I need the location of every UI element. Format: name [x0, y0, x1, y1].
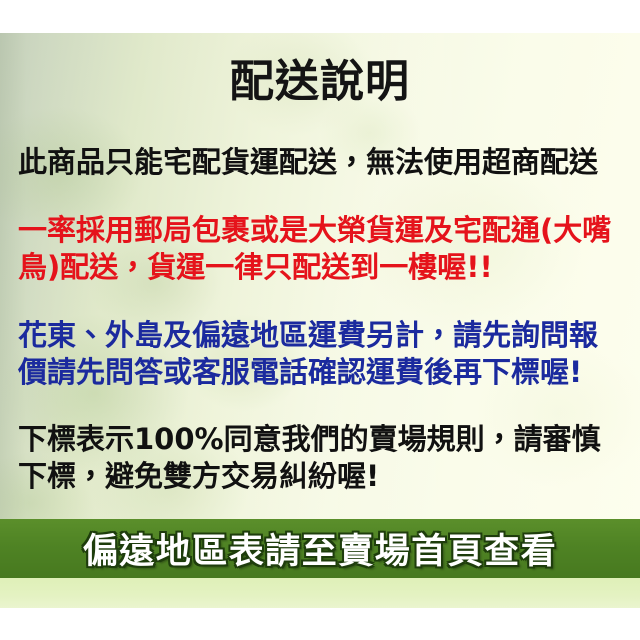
footer-strip [0, 578, 640, 608]
remote-area-banner: 偏遠地區表請至賣場首頁查看 [0, 519, 640, 578]
notice-paragraph-carriers-and-ground-floor: 一率採用郵局包裹或是大榮貨運及宅配通(大嘴鳥)配送，貨運一律只配送到一樓喔!! [18, 212, 626, 287]
page-title: 配送說明 [0, 59, 640, 106]
delivery-notice-banner: 配送說明 此商品只能宅配貨運配送，無法使用超商配送 一率採用郵局包裹或是大榮貨運… [0, 0, 640, 640]
notice-paragraph-remote-area-surcharge: 花東、外島及偏遠地區運費另計，請先詢問報價請先問答或客服電話確認運費後再下標喔! [18, 317, 626, 392]
notice-paragraph-bid-agreement: 下標表示100%同意我們的賣場規則，請審慎下標，避免雙方交易糾紛喔! [18, 421, 626, 496]
notice-paragraph-home-delivery-only: 此商品只能宅配貨運配送，無法使用超商配送 [18, 144, 626, 181]
remote-area-banner-label: 偏遠地區表請至賣場首頁查看 [83, 523, 558, 574]
